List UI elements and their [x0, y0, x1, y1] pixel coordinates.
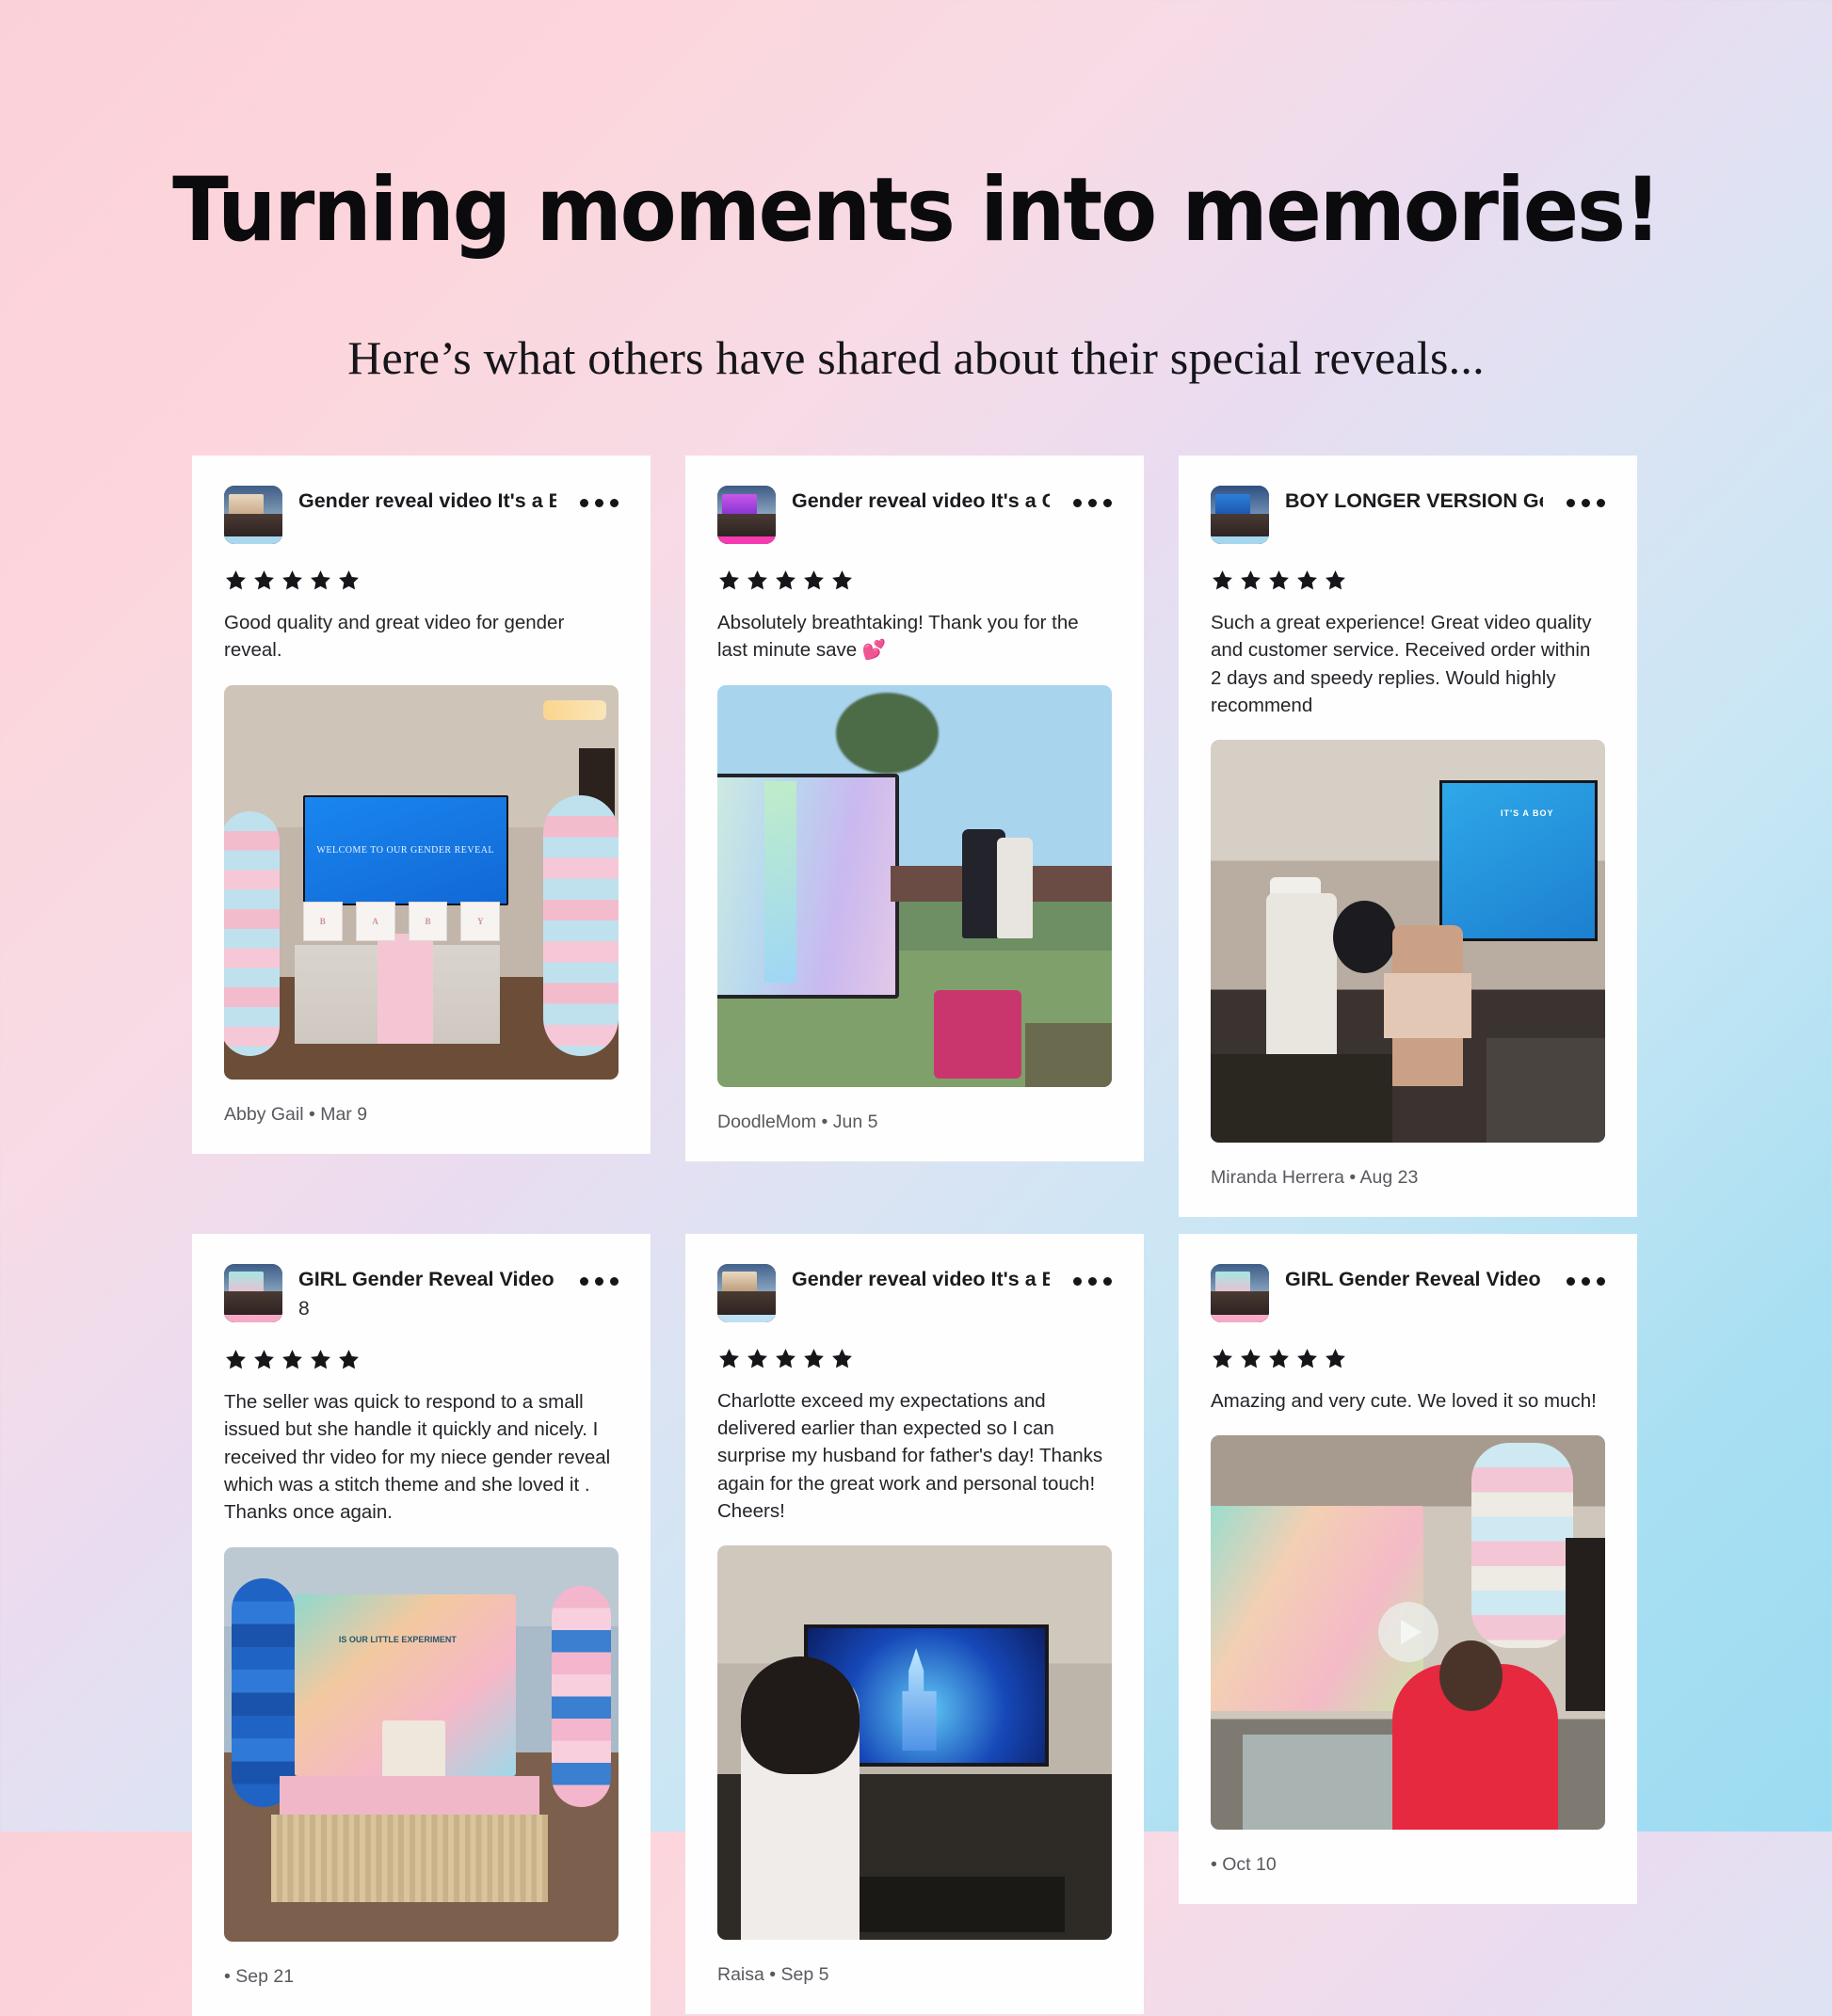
- star-icon: [717, 568, 741, 592]
- product-title[interactable]: Gender reveal video It's a Boy! Vide...: [298, 488, 556, 514]
- review-text: Amazing and very cute. We loved it so mu…: [1211, 1387, 1605, 1415]
- product-title[interactable]: GIRL Gender Reveal Video digital ...: [298, 1267, 556, 1292]
- review-text: Charlotte exceed my expectations and del…: [717, 1387, 1112, 1526]
- star-icon: [1295, 1347, 1319, 1370]
- star-icon: [281, 1348, 304, 1371]
- tv-screen: WELCOME TO OUR GENDER REVEAL: [303, 795, 508, 905]
- star-icon: [1211, 1347, 1234, 1370]
- star-icon: [281, 568, 304, 592]
- review-card[interactable]: Gender reveal video It's a Girl! Vide...…: [685, 456, 1144, 1161]
- balloon-column-right: [543, 795, 619, 1056]
- star-icon: [830, 568, 854, 592]
- review-card-header: GIRL Gender Reveal Video digital ... 8: [224, 1264, 619, 1323]
- review-card[interactable]: Gender reveal video It's a Boy! Vide... …: [685, 1234, 1144, 2015]
- product-thumbnail-icon[interactable]: [1211, 1264, 1269, 1322]
- product-title[interactable]: GIRL Gender Reveal Video digital ...: [1285, 1267, 1543, 1292]
- heart-emoji-icon: 💕: [862, 639, 887, 661]
- star-icon: [1211, 568, 1234, 592]
- review-byline: • Oct 10: [1211, 1854, 1605, 1876]
- tv-screen: [1439, 780, 1598, 941]
- product-info: Gender reveal video It's a Girl! Vide...: [792, 486, 1050, 516]
- review-card[interactable]: GIRL Gender Reveal Video digital ... Ama…: [1179, 1234, 1637, 1904]
- person-hair: [1439, 1640, 1503, 1711]
- rating-stars: [1211, 1347, 1605, 1370]
- product-thumbnail-icon[interactable]: [224, 486, 282, 544]
- skirt: [1384, 973, 1470, 1037]
- more-options-icon[interactable]: [1567, 1264, 1605, 1286]
- product-info: Gender reveal video It's a Boy! Vide...: [792, 1264, 1050, 1294]
- review-photo[interactable]: IS OUR LITTLE EXPERIMENT: [224, 1547, 619, 1942]
- blanket: [1025, 1023, 1112, 1087]
- review-card-header: Gender reveal video It's a Boy! Vide...: [717, 1264, 1112, 1322]
- balloon-column-left: [232, 1578, 295, 1807]
- neon-sign: [543, 700, 606, 720]
- product-info: GIRL Gender Reveal Video digital ...: [1285, 1264, 1543, 1294]
- star-icon: [337, 568, 361, 592]
- sofa: [1211, 1054, 1392, 1143]
- star-icon: [1324, 568, 1347, 592]
- product-title[interactable]: BOY LONGER VERSION Gender ...: [1285, 488, 1543, 514]
- star-icon: [252, 1348, 276, 1371]
- review-text: Good quality and great video for gender …: [224, 609, 619, 664]
- balloon-column-left: [224, 811, 280, 1056]
- star-icon: [717, 1347, 741, 1370]
- review-card-header: Gender reveal video It's a Girl! Vide...: [717, 486, 1112, 544]
- review-photo[interactable]: IT'S A BOY: [1211, 740, 1605, 1142]
- review-text: The seller was quick to respond to a sma…: [224, 1388, 619, 1527]
- review-card-header: GIRL Gender Reveal Video digital ...: [1211, 1264, 1605, 1322]
- star-icon: [252, 568, 276, 592]
- person: [1266, 893, 1337, 1070]
- review-card[interactable]: BOY LONGER VERSION Gender ... Such a gre…: [1179, 456, 1637, 1217]
- child-hair: [741, 1656, 860, 1775]
- more-options-icon[interactable]: [580, 1264, 619, 1286]
- star-icon: [802, 568, 826, 592]
- review-text: Absolutely breathtaking! Thank you for t…: [717, 609, 1112, 664]
- product-thumbnail-icon[interactable]: [717, 486, 776, 544]
- baby-letter-blocks: BABY: [303, 902, 501, 941]
- product-info: Gender reveal video It's a Boy! Vide...: [298, 486, 556, 516]
- review-card[interactable]: GIRL Gender Reveal Video digital ... 8 T…: [192, 1234, 651, 2016]
- review-video[interactable]: [1211, 1435, 1605, 1830]
- rating-stars: [1211, 568, 1605, 592]
- cake: [382, 1720, 445, 1784]
- balloon-column-right: [552, 1586, 611, 1807]
- grass-skirt: [271, 1815, 547, 1901]
- review-byline: Miranda Herrera • Aug 23: [1211, 1167, 1605, 1189]
- product-info: GIRL Gender Reveal Video digital ... 8: [298, 1264, 556, 1323]
- rating-stars: [224, 568, 619, 592]
- review-card-header: Gender reveal video It's a Boy! Vide...: [224, 486, 619, 544]
- star-icon: [1239, 1347, 1262, 1370]
- tv-stand: [1486, 1038, 1605, 1143]
- star-icon: [309, 1348, 332, 1371]
- page-header: Turning moments into memories! Here’s wh…: [0, 0, 1832, 386]
- product-thumbnail-icon[interactable]: [1211, 486, 1269, 544]
- balloon-arch: [1471, 1443, 1574, 1648]
- backdrop-caption: IS OUR LITTLE EXPERIMENT: [327, 1634, 469, 1647]
- product-title[interactable]: Gender reveal video It's a Girl! Vide...: [792, 488, 1050, 514]
- more-options-icon[interactable]: [1567, 486, 1605, 507]
- review-byline: Abby Gail • Mar 9: [224, 1104, 619, 1126]
- review-card[interactable]: Gender reveal video It's a Boy! Vide... …: [192, 456, 651, 1154]
- star-icon: [337, 1348, 361, 1371]
- doorway: [1566, 1538, 1605, 1711]
- star-icon: [309, 568, 332, 592]
- more-options-icon[interactable]: [1073, 1264, 1112, 1286]
- light-beam: [764, 781, 796, 983]
- star-icon: [1267, 568, 1291, 592]
- star-icon: [224, 1348, 248, 1371]
- review-text: Such a great experience! Great video qua…: [1211, 609, 1605, 719]
- tv-caption: WELCOME TO OUR GENDER REVEAL: [316, 843, 494, 857]
- review-text-body: Absolutely breathtaking! Thank you for t…: [717, 612, 1079, 661]
- star-icon: [746, 1347, 769, 1370]
- product-thumbnail-icon[interactable]: [224, 1264, 282, 1322]
- rating-stars: [224, 1348, 619, 1371]
- party-table: [280, 1776, 540, 1816]
- review-photo[interactable]: [717, 1545, 1112, 1940]
- more-options-icon[interactable]: [1073, 486, 1112, 507]
- lawn-chair: [934, 990, 1020, 1079]
- table-runner: [378, 934, 433, 1044]
- star-icon: [802, 1347, 826, 1370]
- star-icon: [224, 568, 248, 592]
- review-card-header: BOY LONGER VERSION Gender ...: [1211, 486, 1605, 544]
- black-balloon: [1333, 901, 1396, 973]
- star-icon: [774, 568, 797, 592]
- star-icon: [746, 568, 769, 592]
- review-byline: Raisa • Sep 5: [717, 1964, 1112, 1986]
- page-subtitle: Here’s what others have shared about the…: [0, 329, 1832, 386]
- review-photo[interactable]: WELCOME TO OUR GENDER REVEAL BABY: [224, 685, 619, 1080]
- review-byline: DoodleMom • Jun 5: [717, 1112, 1112, 1133]
- projector-screen: [717, 774, 899, 999]
- more-options-icon[interactable]: [580, 486, 619, 507]
- review-photo[interactable]: [717, 685, 1112, 1087]
- person: [997, 838, 1033, 938]
- tree: [836, 693, 939, 773]
- star-icon: [1267, 1347, 1291, 1370]
- star-icon: [830, 1347, 854, 1370]
- star-icon: [1239, 568, 1262, 592]
- review-byline: • Sep 21: [224, 1966, 619, 1988]
- product-title[interactable]: Gender reveal video It's a Boy! Vide...: [792, 1267, 1050, 1292]
- review-wall-page: Turning moments into memories! Here’s wh…: [0, 0, 1832, 1832]
- page-title: Turning moments into memories!: [64, 166, 1768, 256]
- reviews-grid: Gender reveal video It's a Boy! Vide... …: [192, 456, 1647, 2016]
- star-icon: [774, 1347, 797, 1370]
- product-subtitle: 8: [298, 1294, 556, 1324]
- star-icon: [1295, 568, 1319, 592]
- product-thumbnail-icon[interactable]: [717, 1264, 776, 1322]
- rating-stars: [717, 1347, 1112, 1370]
- play-button-icon[interactable]: [1378, 1602, 1438, 1662]
- tv-caption: IT'S A BOY: [1501, 808, 1553, 818]
- rating-stars: [717, 568, 1112, 592]
- product-info: BOY LONGER VERSION Gender ...: [1285, 486, 1543, 516]
- star-icon: [1324, 1347, 1347, 1370]
